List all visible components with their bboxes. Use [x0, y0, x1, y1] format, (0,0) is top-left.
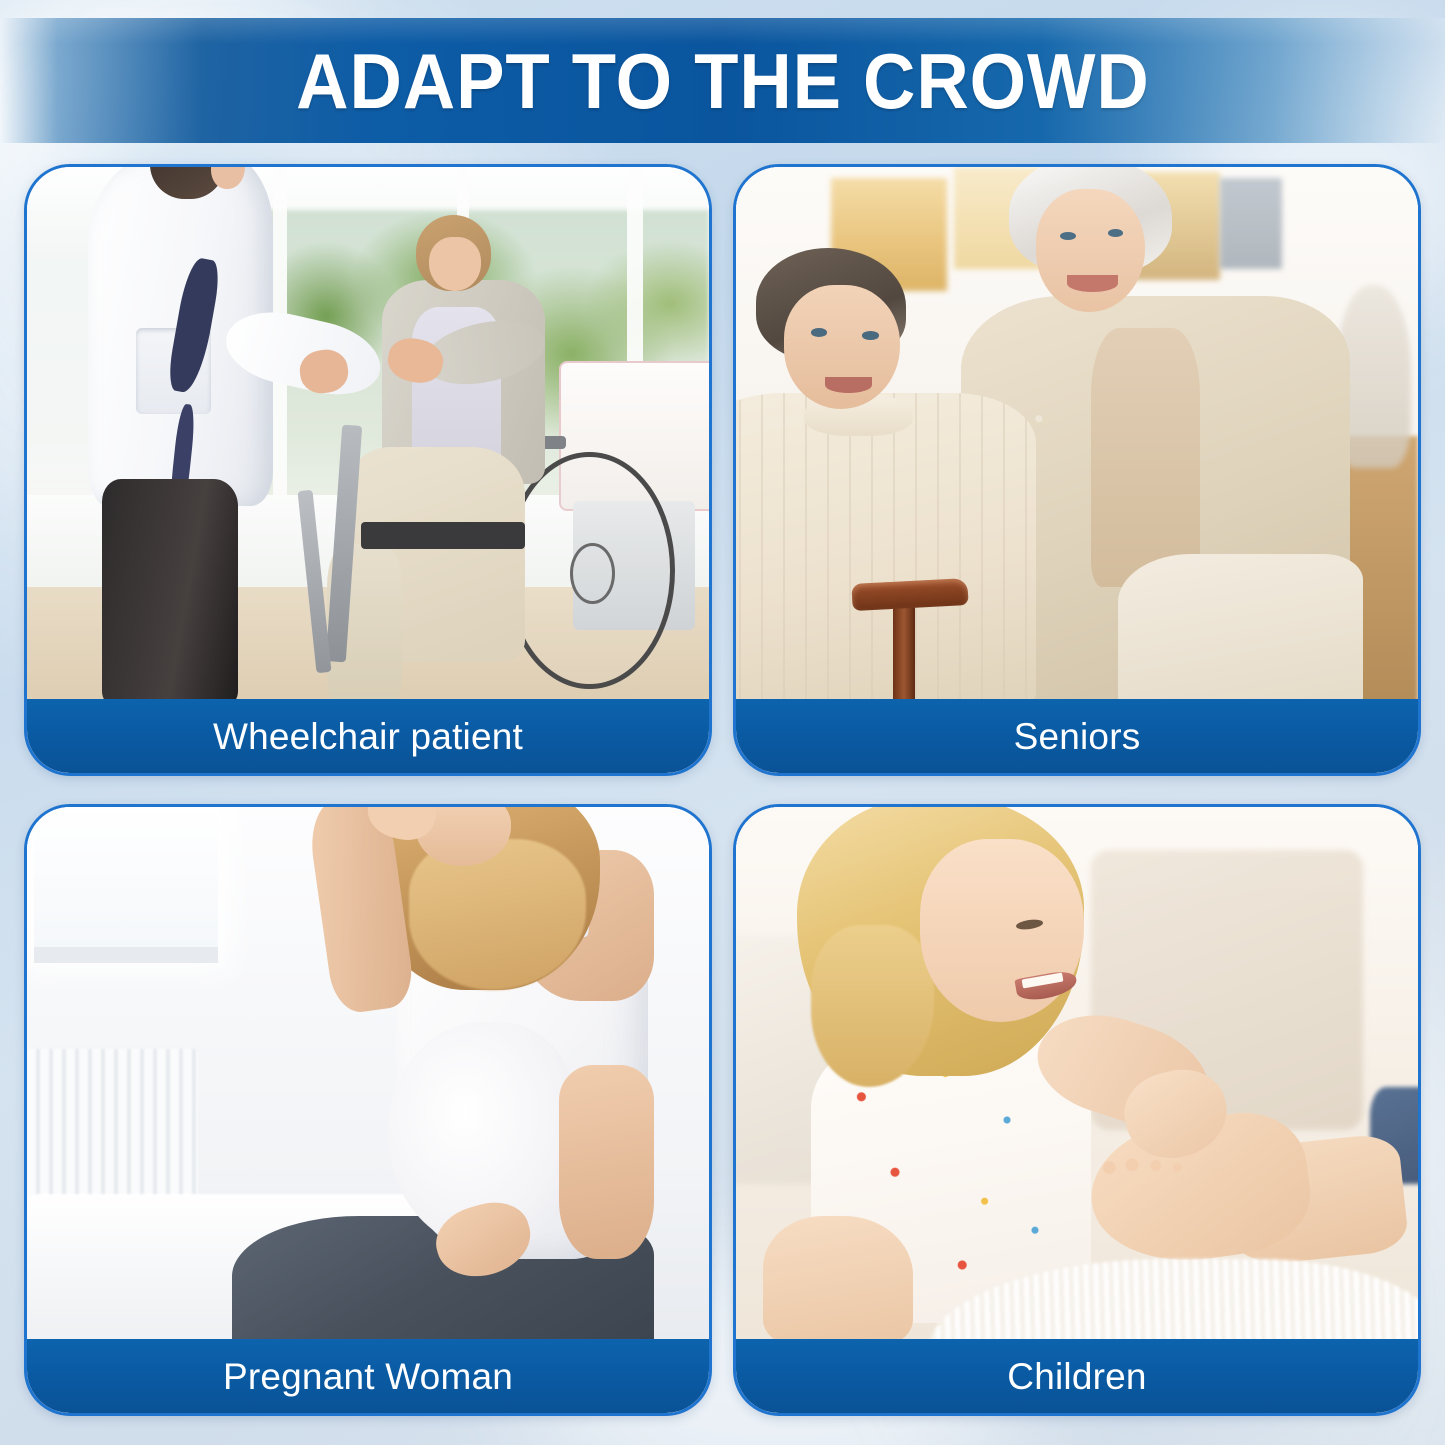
caption-label: Children	[1007, 1358, 1146, 1395]
caption-label: Seniors	[1014, 718, 1141, 755]
infographic-page: ADAPT TO THE CROWD	[0, 0, 1445, 1445]
caption-bar-pregnant-woman: Pregnant Woman	[27, 1339, 709, 1413]
photo-children	[736, 807, 1418, 1345]
caption-bar-seniors: Seniors	[736, 699, 1418, 773]
header-banner: ADAPT TO THE CROWD	[0, 18, 1445, 143]
photo-seniors	[736, 167, 1418, 705]
page-title: ADAPT TO THE CROWD	[296, 42, 1150, 120]
card-wheelchair-patient[interactable]: Wheelchair patient	[24, 164, 712, 776]
caption-bar-children: Children	[736, 1339, 1418, 1413]
photo-wheelchair-patient	[27, 167, 709, 705]
card-seniors[interactable]: Seniors	[733, 164, 1421, 776]
card-grid: Wheelchair patient	[24, 164, 1421, 1416]
photo-pregnant-woman	[27, 807, 709, 1345]
card-children[interactable]: Children	[733, 804, 1421, 1416]
caption-label: Wheelchair patient	[213, 718, 523, 755]
card-pregnant-woman[interactable]: Pregnant Woman	[24, 804, 712, 1416]
caption-bar-wheelchair-patient: Wheelchair patient	[27, 699, 709, 773]
caption-label: Pregnant Woman	[223, 1358, 513, 1395]
